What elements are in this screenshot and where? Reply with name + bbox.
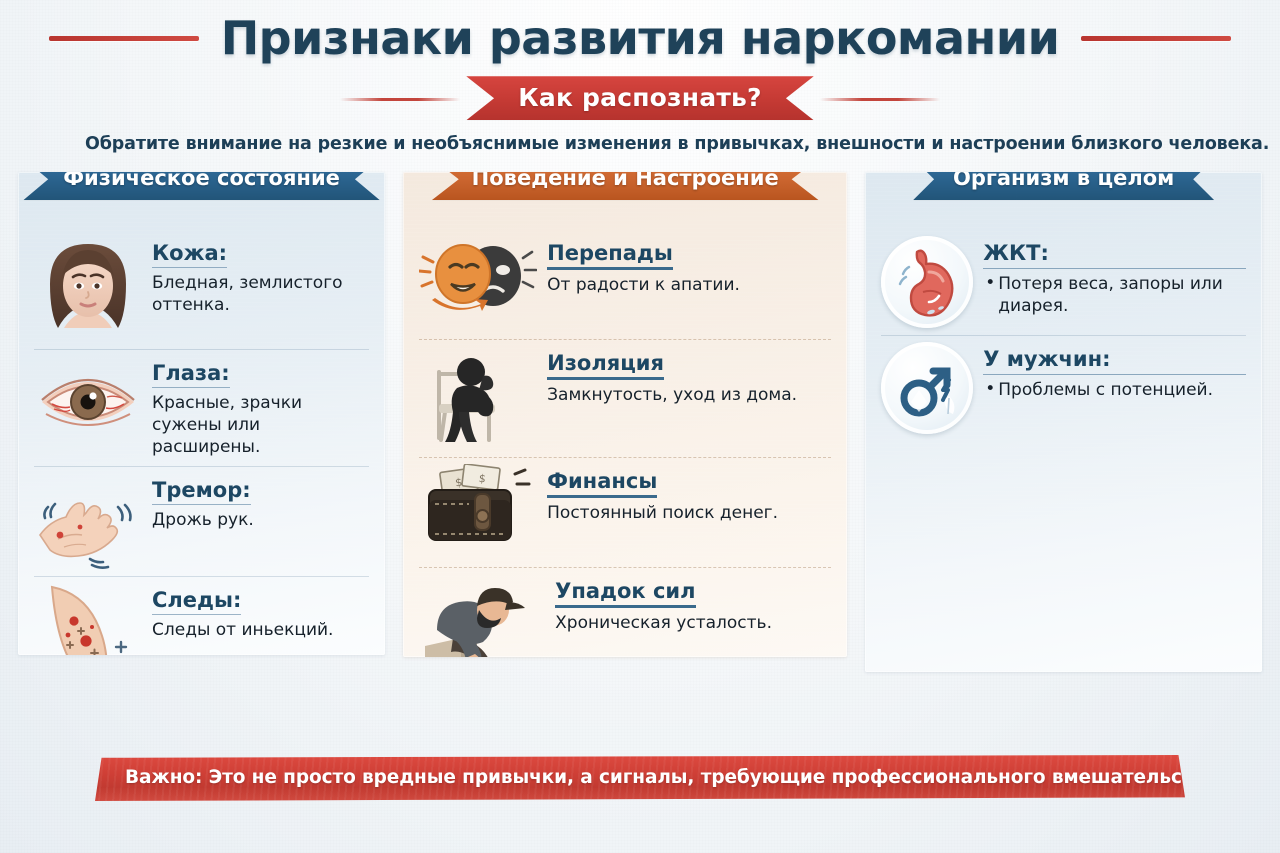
footer-banner-wrap: Важно: Это не просто вредные привычки, а… — [0, 755, 1280, 801]
bloodshot-eye-icon — [34, 356, 142, 444]
list-item: У мужчин: Проблемы с потенцией. — [881, 335, 1246, 441]
poster-header: Признаки развития наркомании Как распозн… — [0, 0, 1280, 154]
list-item-desc: Проблемы с потенцией. — [983, 380, 1246, 402]
list-item-desc: Хроническая усталость. — [555, 613, 831, 635]
panel-physical: Физическое состояние — [18, 172, 385, 655]
list-item-title: Кожа: — [152, 242, 227, 268]
list-item: Перепады От радости к апатии. — [419, 230, 831, 339]
list-item-title: Изоляция — [547, 352, 664, 380]
list-item: Глаза: Красные, зрачки сужены или расшир… — [34, 349, 369, 465]
columns-container: Физическое состояние — [0, 172, 1280, 672]
list-item-text: Упадок сил Хроническая усталость. — [555, 574, 831, 635]
isolated-person-chair-icon — [419, 346, 537, 450]
list-item-title: Тремор: — [152, 479, 251, 505]
panel-behaviour: Поведение и Настроение — [403, 172, 847, 657]
list-item-title: Упадок сил — [555, 580, 695, 608]
theatre-masks-icon — [419, 236, 537, 332]
list-item-title: Перепады — [547, 242, 673, 270]
stomach-icon — [881, 236, 973, 328]
list-item: Упадок сил Хроническая усталость. — [419, 567, 831, 657]
list-item-desc: Красные, зрачки сужены или расширены. — [152, 393, 369, 458]
column-header-organism: Организм в целом — [913, 172, 1214, 200]
column-behaviour: Поведение и Настроение — [403, 172, 847, 657]
list-item: Изоляция Замкнутость, уход из дома. — [419, 339, 831, 457]
subtitle-rule-left-decoration — [340, 98, 460, 101]
subtitle-ribbon-row: Как распознать? — [0, 76, 1280, 120]
list-item-desc: Дрожь рук. — [152, 510, 369, 532]
female-face-icon — [34, 236, 142, 342]
list-item-text: ЖКТ: Потеря веса, запоры или диарея. — [983, 236, 1246, 318]
title-rule-left-decoration — [49, 36, 199, 41]
list-item-title: У мужчин: — [983, 348, 1246, 375]
panel-body-physical: Кожа: Бледная, землистого оттенка. — [34, 230, 369, 655]
list-item-title: Глаза: — [152, 362, 230, 388]
title-row: Признаки развития наркомании — [0, 14, 1280, 62]
list-item-text: Изоляция Замкнутость, уход из дома. — [547, 346, 831, 407]
panel-body-organism: ЖКТ: Потеря веса, запоры или диарея. — [881, 230, 1246, 441]
list-item-text: Тремор: Дрожь рук. — [152, 473, 369, 532]
list-item-text: Финансы Постоянный поиск денег. — [547, 464, 831, 525]
column-header-physical: Физическое состояние — [23, 172, 380, 200]
list-item-desc: От радости к апатии. — [547, 275, 831, 297]
footer-warning-banner: Важно: Это не просто вредные привычки, а… — [95, 755, 1185, 801]
male-symbol-icon-circle — [881, 342, 973, 434]
list-item-title: ЖКТ: — [983, 242, 1246, 269]
infographic-poster: Признаки развития наркомании Как распозн… — [0, 0, 1280, 853]
list-item-title: Финансы — [547, 470, 657, 498]
list-item-text: Глаза: Красные, зрачки сужены или расшир… — [152, 356, 369, 458]
list-item-text: У мужчин: Проблемы с потенцией. — [983, 342, 1246, 402]
column-organism: Организм в целом — [865, 172, 1262, 672]
column-physical: Физическое состояние — [18, 172, 385, 655]
list-item: Следы: Следы от иньекций. — [34, 576, 369, 656]
injection-marks-arm-icon — [34, 583, 142, 656]
list-item: Кожа: Бледная, землистого оттенка. — [34, 230, 369, 349]
list-item: $ $ — [419, 457, 831, 567]
male-symbol-icon — [881, 342, 973, 434]
list-item: ЖКТ: Потеря веса, запоры или диарея. — [881, 230, 1246, 335]
stomach-icon-circle — [881, 236, 973, 328]
panel-body-behaviour: Перепады От радости к апатии. — [419, 230, 831, 657]
list-item: Тремор: Дрожь рук. — [34, 466, 369, 576]
trembling-hand-icon — [34, 473, 142, 569]
page-title: Признаки развития наркомании — [221, 14, 1060, 62]
subtitle-ribbon: Как распознать? — [466, 76, 813, 120]
column-header-behaviour: Поведение и Настроение — [432, 172, 819, 200]
list-item-desc: Замкнутость, уход из дома. — [547, 385, 831, 407]
list-item-desc: Постоянный поиск денег. — [547, 503, 831, 525]
list-item-text: Следы: Следы от иньекций. — [152, 583, 369, 642]
list-item-desc: Потеря веса, запоры или диарея. — [983, 274, 1246, 318]
list-item-desc: Следы от иньекций. — [152, 620, 369, 642]
wallet-money-icon: $ $ — [419, 464, 537, 560]
list-item-title: Следы: — [152, 589, 241, 615]
exhausted-man-sitting-icon — [419, 574, 545, 657]
title-rule-right-decoration — [1081, 36, 1231, 41]
list-item-text: Кожа: Бледная, землистого оттенка. — [152, 236, 369, 317]
list-item-text: Перепады От радости к апатии. — [547, 236, 831, 297]
lede-paragraph: Обратите внимание на резкие и необъясним… — [85, 134, 1195, 154]
list-item-desc: Бледная, землистого оттенка. — [152, 273, 369, 317]
subtitle-rule-right-decoration — [820, 98, 940, 101]
panel-organism: Организм в целом — [865, 172, 1262, 672]
